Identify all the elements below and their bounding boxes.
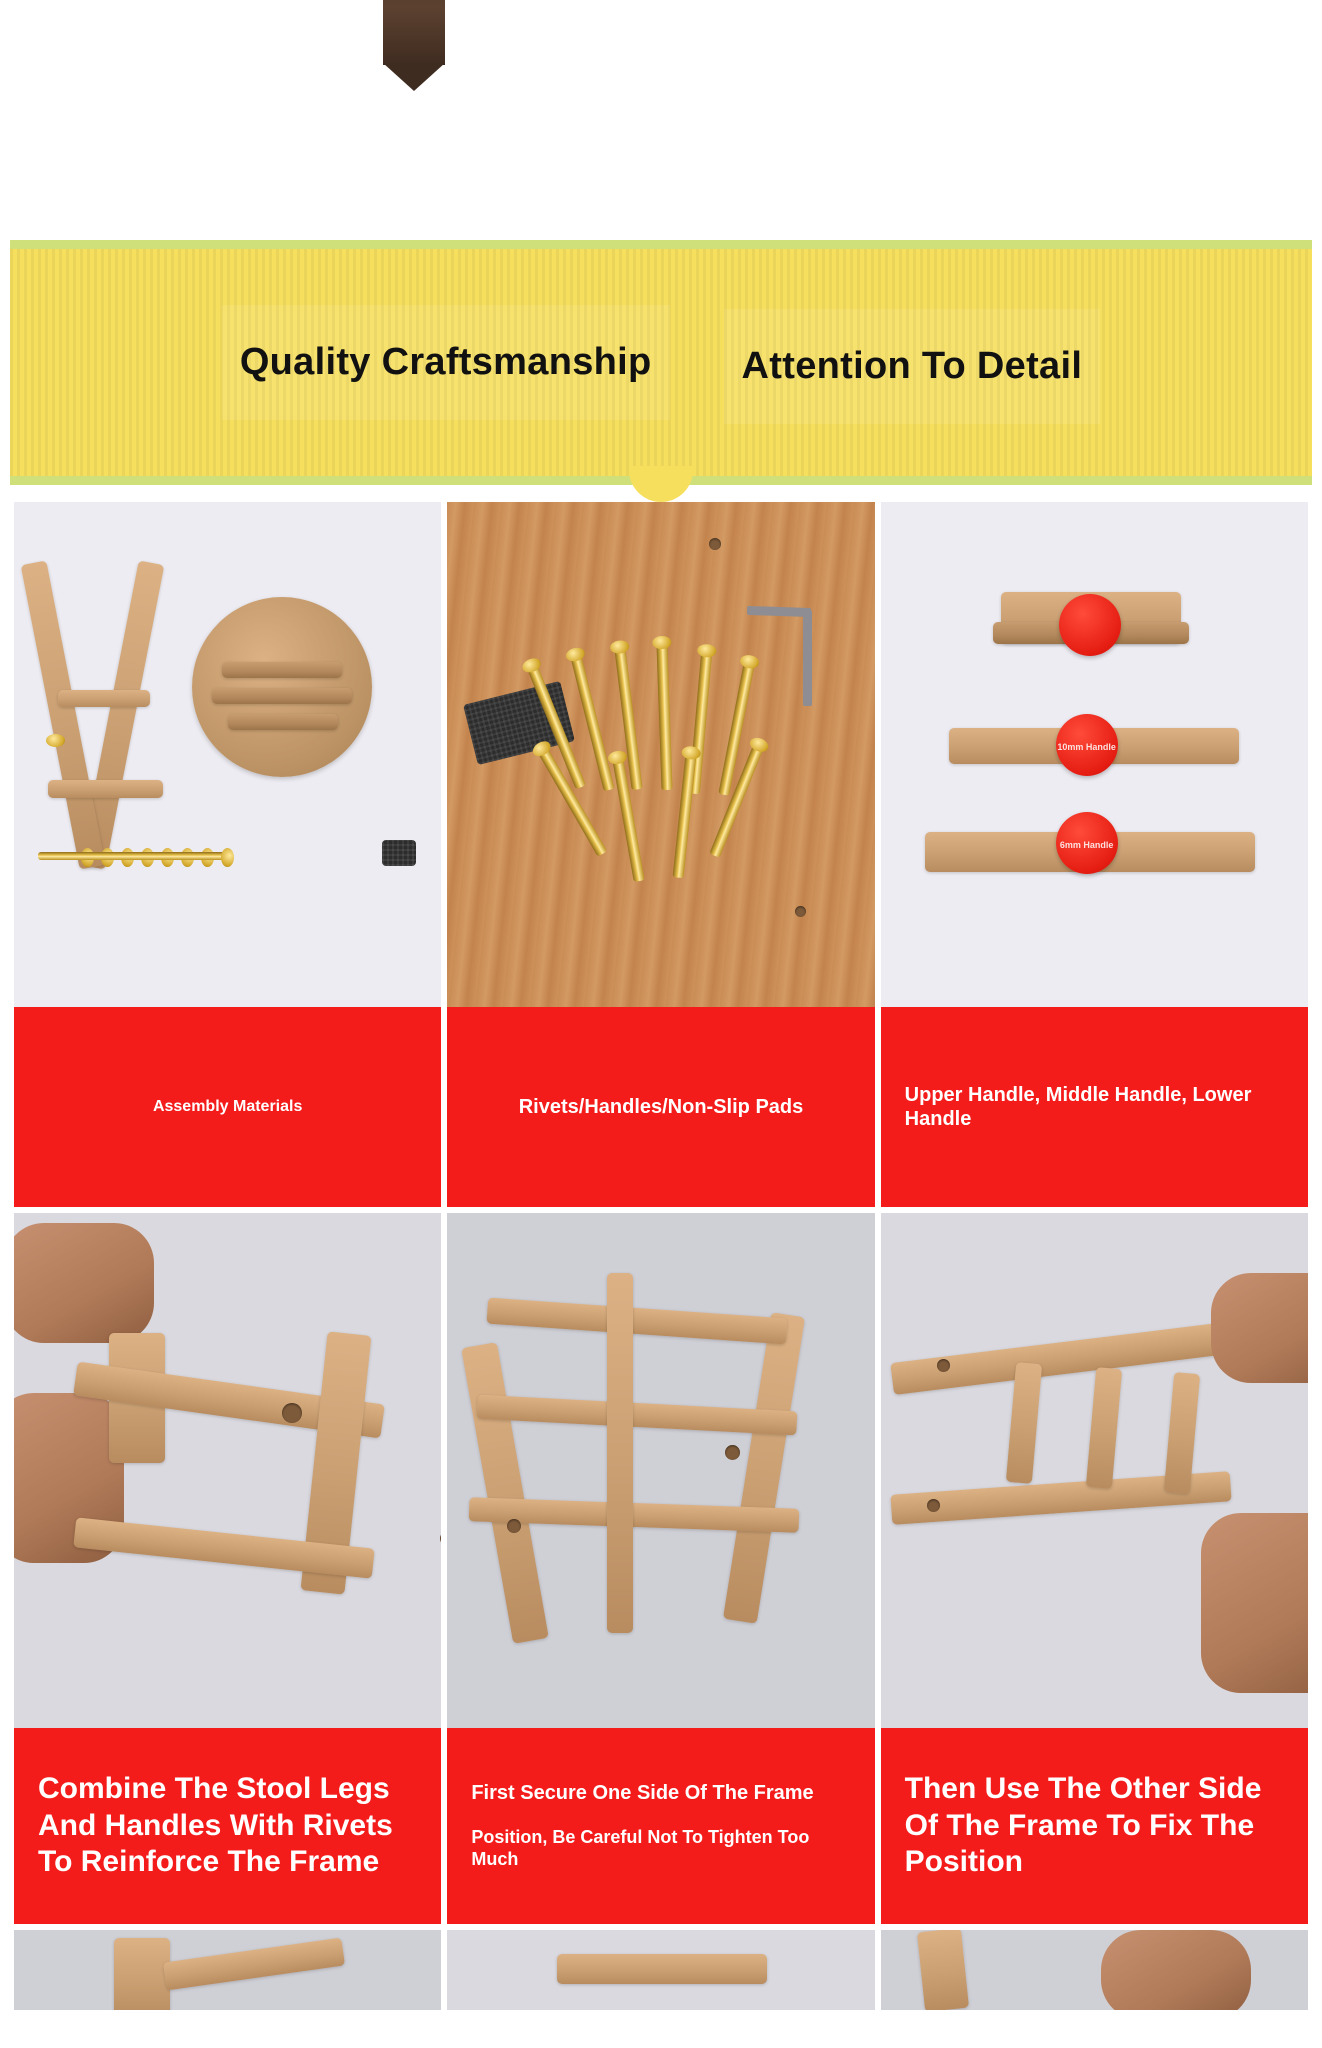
- grid-cell-peek-1: [14, 1930, 441, 2010]
- yellow-banner: Quality Craftsmanship Attention To Detai…: [10, 240, 1312, 485]
- caption-assembly-materials: Assembly Materials: [14, 1007, 441, 1207]
- photo-handles-three: 10mm Handle 6mm Handle: [881, 502, 1308, 1007]
- grid-cell-combine-legs: Combine The Stool Legs And Handles With …: [14, 1213, 441, 1924]
- wooden-peg-graphic: [383, 0, 445, 65]
- caption-text: Upper Handle, Middle Handle, Lower Handl…: [905, 1083, 1284, 1132]
- handle-label-middle: 10mm Handle: [1057, 742, 1116, 752]
- photo-peek-1: [14, 1930, 441, 2010]
- photo-combine-legs: [14, 1213, 441, 1728]
- grid-cell-peek-3: [881, 1930, 1308, 2010]
- grid-cell-fix-other-side: Then Use The Other Side Of The Frame To …: [881, 1213, 1308, 1924]
- grid-cell-rivets-handles-pads: Rivets/Handles/Non-Slip Pads: [447, 502, 874, 1207]
- caption-text: Combine The Stool Legs And Handles With …: [38, 1771, 417, 1881]
- photo-secure-one-side: [447, 1213, 874, 1728]
- banner-notch: [629, 466, 693, 502]
- photo-peek-3: [881, 1930, 1308, 2010]
- caption-text: Rivets/Handles/Non-Slip Pads: [519, 1095, 804, 1119]
- top-image-strip: [0, 0, 1322, 240]
- caption-text: First Secure One Side Of The Frame: [471, 1781, 850, 1805]
- caption-text: Assembly Materials: [38, 1097, 417, 1117]
- grid-cell-handles-three: 10mm Handle 6mm Handle Upper Handle, Mid…: [881, 502, 1308, 1207]
- caption-handles-three: Upper Handle, Middle Handle, Lower Handl…: [881, 1007, 1308, 1207]
- banner-title-left: Quality Craftsmanship: [222, 305, 670, 420]
- caption-combine-legs: Combine The Stool Legs And Handles With …: [14, 1728, 441, 1924]
- handle-label-lower: 6mm Handle: [1060, 840, 1114, 850]
- product-detail-page: Quality Craftsmanship Attention To Detai…: [0, 0, 1322, 2048]
- caption-secure-one-side: First Secure One Side Of The Frame Posit…: [447, 1728, 874, 1924]
- caption-text: Then Use The Other Side Of The Frame To …: [905, 1771, 1284, 1881]
- photo-fix-other-side: [881, 1213, 1308, 1728]
- feature-grid: Assembly Materials: [0, 502, 1322, 2010]
- caption-fix-other-side: Then Use The Other Side Of The Frame To …: [881, 1728, 1308, 1924]
- photo-assembly-materials: [14, 502, 441, 1007]
- banner-section: Quality Craftsmanship Attention To Detai…: [0, 240, 1322, 502]
- banner-title-right: Attention To Detail: [724, 309, 1101, 424]
- photo-rivets-handles-pads: [447, 502, 874, 1007]
- grid-cell-secure-one-side: First Secure One Side Of The Frame Posit…: [447, 1213, 874, 1924]
- grid-cell-peek-2: [447, 1930, 874, 2010]
- caption-subtext: Position, Be Careful Not To Tighten Too …: [471, 1827, 850, 1871]
- caption-rivets-handles-pads: Rivets/Handles/Non-Slip Pads: [447, 1007, 874, 1207]
- photo-peek-2: [447, 1930, 874, 2010]
- grid-cell-assembly-materials: Assembly Materials: [14, 502, 441, 1207]
